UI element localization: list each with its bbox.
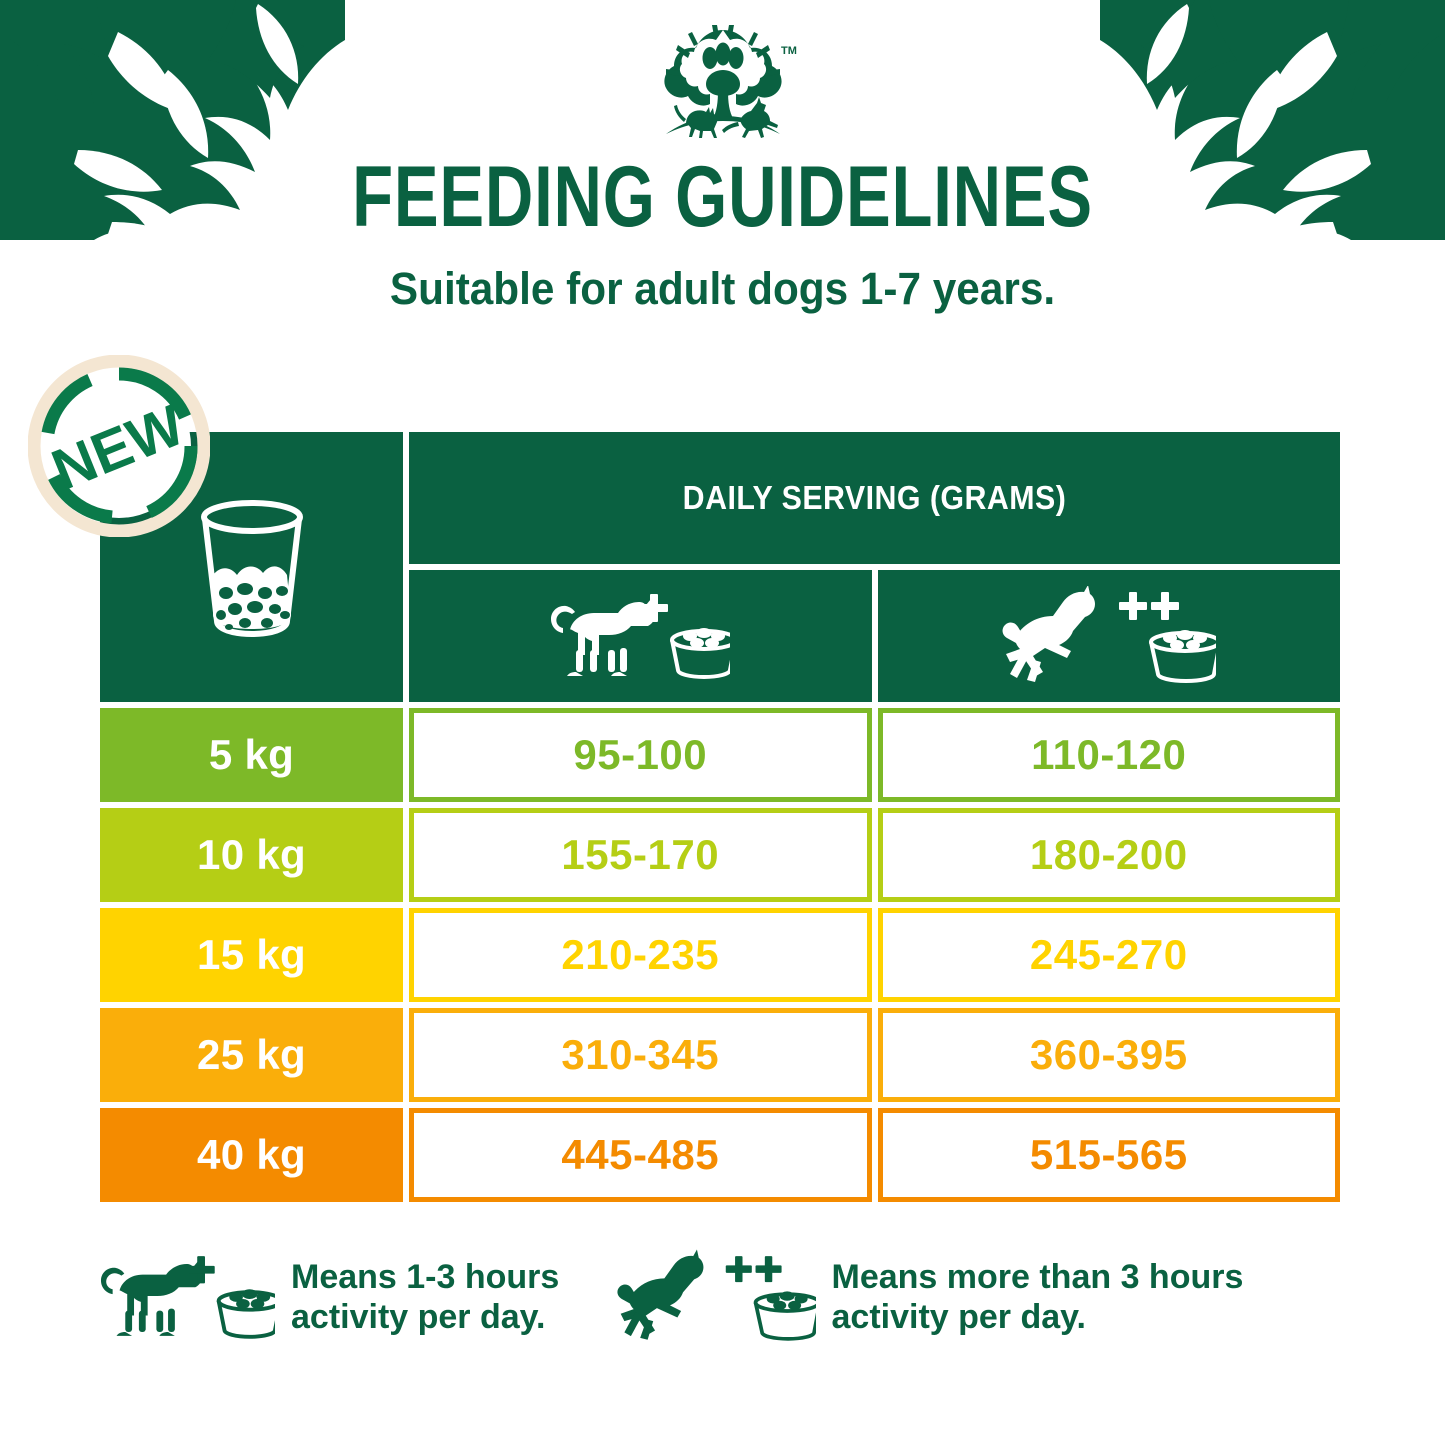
tree-paw-cat-dog-logo-icon: TM (648, 24, 798, 142)
page-header: TM FEEDING GUIDELINES Suitable for adult… (0, 0, 1445, 311)
page-title: FEEDING GUIDELINES (159, 154, 1286, 240)
page-subtitle: Suitable for adult dogs 1-7 years. (43, 266, 1401, 311)
table-row: 25 kg 310-345 360-395 (100, 1008, 1340, 1102)
measuring-cup-with-kibble-icon (193, 497, 311, 637)
serving-cell-high: 110-120 (878, 708, 1341, 802)
column-header-high-activity (878, 570, 1341, 702)
jumping-dog-with-bowl-double-plus-icon (616, 1248, 816, 1346)
serving-cell-high: 180-200 (878, 808, 1341, 902)
serving-cell-low: 445-485 (409, 1108, 872, 1202)
legend-item-low-activity: Means 1-3 hours activity per day. (100, 1248, 568, 1346)
standing-dog-with-bowl-plus-icon (100, 1248, 275, 1346)
legend-text-high-activity: Means more than 3 hours activity per day… (832, 1257, 1361, 1337)
weight-cell: 15 kg (100, 908, 403, 1002)
trademark-symbol: TM (781, 45, 797, 57)
legend-text-low-activity: Means 1-3 hours activity per day. (291, 1257, 568, 1337)
serving-cell-high: 360-395 (878, 1008, 1341, 1102)
daily-serving-header: DAILY SERVING (GRAMS) (409, 432, 1340, 564)
serving-cell-low: 310-345 (409, 1008, 872, 1102)
brand-logo: TM (0, 24, 1445, 142)
serving-cell-low: 155-170 (409, 808, 872, 902)
new-badge: NEW (28, 355, 210, 537)
table-row: 5 kg 95-100 110-120 (100, 708, 1340, 802)
serving-cell-low: 210-235 (409, 908, 872, 1002)
weight-cell: 5 kg (100, 708, 403, 802)
weight-cell: 40 kg (100, 1108, 403, 1202)
feeding-table: DAILY SERVING (GRAMS) (100, 432, 1340, 1202)
table-row: 15 kg 210-235 245-270 (100, 908, 1340, 1002)
jumping-dog-with-bowl-double-plus-icon (1001, 586, 1216, 686)
table-row: 40 kg 445-485 515-565 (100, 1108, 1340, 1202)
serving-cell-high: 515-565 (878, 1108, 1341, 1202)
weight-cell: 10 kg (100, 808, 403, 902)
weight-cell: 25 kg (100, 1008, 403, 1102)
column-header-low-activity (409, 570, 872, 702)
table-row: 10 kg 155-170 180-200 (100, 808, 1340, 902)
standing-dog-with-bowl-plus-icon (550, 588, 730, 684)
legend-item-high-activity: Means more than 3 hours activity per day… (616, 1248, 1361, 1346)
legend: Means 1-3 hours activity per day. (100, 1248, 1360, 1346)
serving-cell-low: 95-100 (409, 708, 872, 802)
serving-cell-high: 245-270 (878, 908, 1341, 1002)
